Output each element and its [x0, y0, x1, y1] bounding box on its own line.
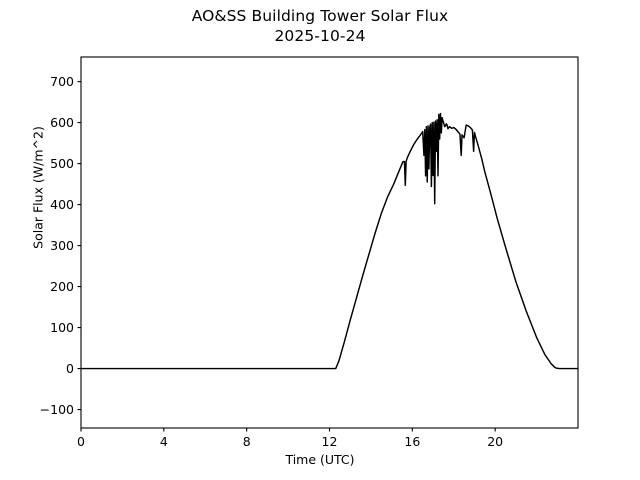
y-tick-label: 200: [50, 279, 74, 294]
y-tick-label: 300: [50, 238, 74, 253]
x-tick-label: 16: [404, 434, 420, 449]
x-tick-label: 20: [487, 434, 503, 449]
y-tick-label: 700: [50, 74, 74, 89]
y-tick-label: 600: [50, 115, 74, 130]
x-tick-label: 8: [243, 434, 251, 449]
plot-area: −1000100200300400500600700 048121620: [0, 0, 640, 480]
chart-figure: AO&SS Building Tower Solar Flux 2025-10-…: [0, 0, 640, 480]
y-tick-label: 500: [50, 156, 74, 171]
y-axis-ticks: −1000100200300400500600700: [40, 74, 81, 417]
x-tick-label: 12: [322, 434, 338, 449]
x-tick-label: 0: [77, 434, 85, 449]
y-tick-label: 100: [50, 320, 74, 335]
data-series-line: [81, 114, 578, 369]
y-tick-label: 0: [66, 361, 74, 376]
y-tick-label: 400: [50, 197, 74, 212]
y-tick-label: −100: [40, 402, 74, 417]
x-tick-label: 4: [160, 434, 168, 449]
x-axis-ticks: 048121620: [77, 428, 503, 449]
